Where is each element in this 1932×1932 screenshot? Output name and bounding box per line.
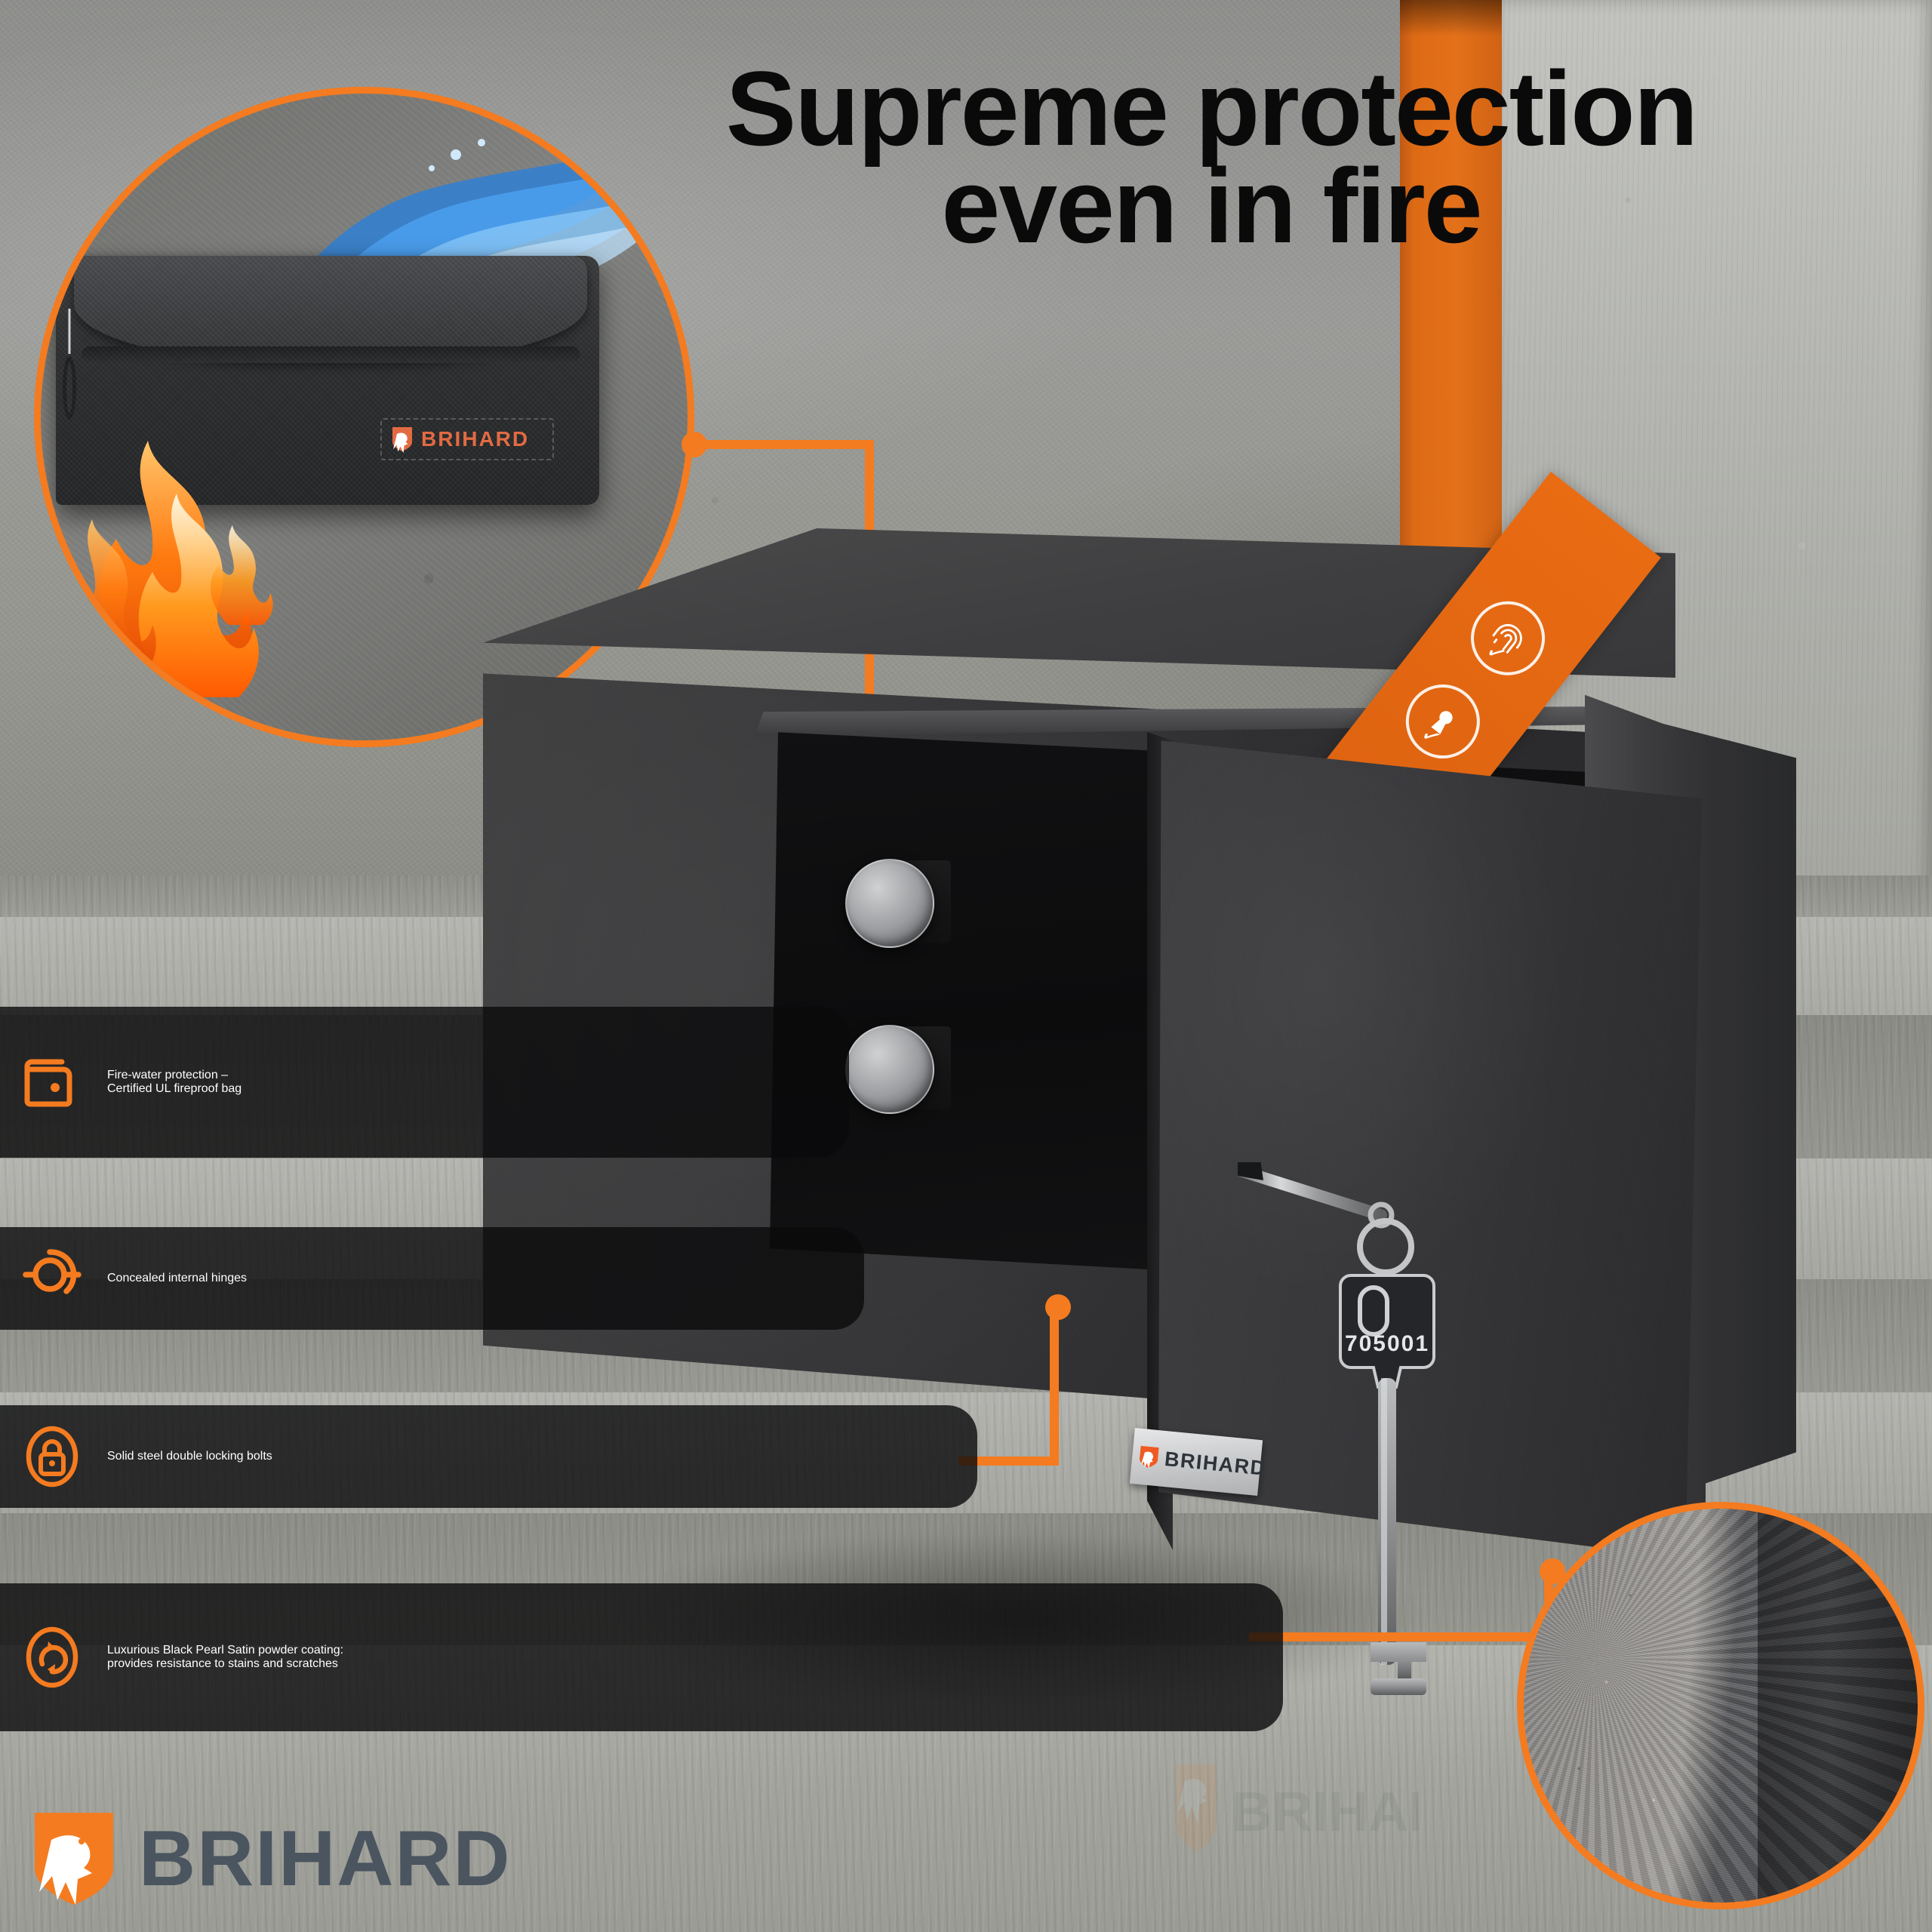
headline-line-2: even in fire xyxy=(574,158,1849,255)
locking-bolt-lower xyxy=(845,1025,934,1114)
svg-text:BRIHARD: BRIHARD xyxy=(1232,1780,1419,1843)
feature-line-1: Fire-water protection – xyxy=(107,1069,241,1082)
feature-text-block: Concealed internal hinges xyxy=(107,1272,247,1285)
connector-line-bag-h xyxy=(693,440,874,449)
feature-line-1-rest: double locking bolts xyxy=(166,1450,272,1463)
connector-line-tex-h xyxy=(1249,1632,1553,1641)
wallet-icon xyxy=(20,1050,85,1115)
brand-wordmark: BRIHARD xyxy=(139,1820,512,1898)
pillar-shadow xyxy=(1400,0,1502,36)
product-infographic: BRIHARD Supreme protection even in fire xyxy=(0,0,1932,1932)
badge-keyhole: ✓ xyxy=(1391,669,1495,774)
bag-label-text: BRIHARD xyxy=(421,427,529,451)
texture-dark-edge xyxy=(1758,1509,1924,1903)
brand-logo: BRIHARD xyxy=(32,1810,512,1908)
feature-fire-water-protection[interactable]: Fire-water protection – Certified UL fir… xyxy=(0,1007,849,1158)
page-title: Supreme protection even in fire xyxy=(574,60,1849,255)
feature-line-2: Certified UL fireproof bag xyxy=(107,1082,241,1096)
eagle-head-shield-icon xyxy=(391,426,414,453)
floor-watermark-logo: BRIHARD xyxy=(1162,1758,1419,1864)
inset-powder-coating-texture xyxy=(1517,1502,1924,1909)
connector-line-bolt-v xyxy=(1050,1306,1059,1466)
badge-fingerprint: ✓ xyxy=(1456,586,1560,691)
eagle-head-shield-icon xyxy=(32,1810,116,1908)
feature-locking-bolts[interactable]: Solid steel double locking bolts xyxy=(0,1405,977,1508)
feature-text-block: Solid steel double locking bolts xyxy=(107,1450,272,1463)
safe-keys: 705001 xyxy=(1238,1162,1555,1766)
feature-concealed-hinges[interactable]: Concealed internal hinges xyxy=(0,1227,864,1330)
feature-line-1: Luxurious Black Pearl Satin powder coati… xyxy=(107,1644,343,1657)
feature-line-1: Solid steel double locking bolts xyxy=(107,1450,272,1463)
key-engraving-text: 705001 xyxy=(1345,1331,1429,1356)
eagle-head-shield-icon xyxy=(1138,1444,1160,1469)
feature-line-1-bold: Solid steel xyxy=(107,1450,166,1463)
feature-line-1: Concealed internal hinges xyxy=(107,1272,247,1285)
hinge-icon xyxy=(20,1246,85,1311)
feature-text-block: Luxurious Black Pearl Satin powder coati… xyxy=(107,1644,343,1671)
feature-line-2: provides resistance to stains and scratc… xyxy=(107,1657,343,1671)
locking-bolt-upper xyxy=(845,859,934,948)
bag-brand-label: BRIHARD xyxy=(380,418,554,460)
padlock-icon xyxy=(20,1424,85,1489)
flame-icon xyxy=(34,320,388,697)
feature-powder-coating[interactable]: Luxurious Black Pearl Satin powder coati… xyxy=(0,1583,1283,1731)
refresh-cycle-icon xyxy=(20,1625,85,1690)
feature-text-block: Fire-water protection – Certified UL fir… xyxy=(107,1069,241,1096)
